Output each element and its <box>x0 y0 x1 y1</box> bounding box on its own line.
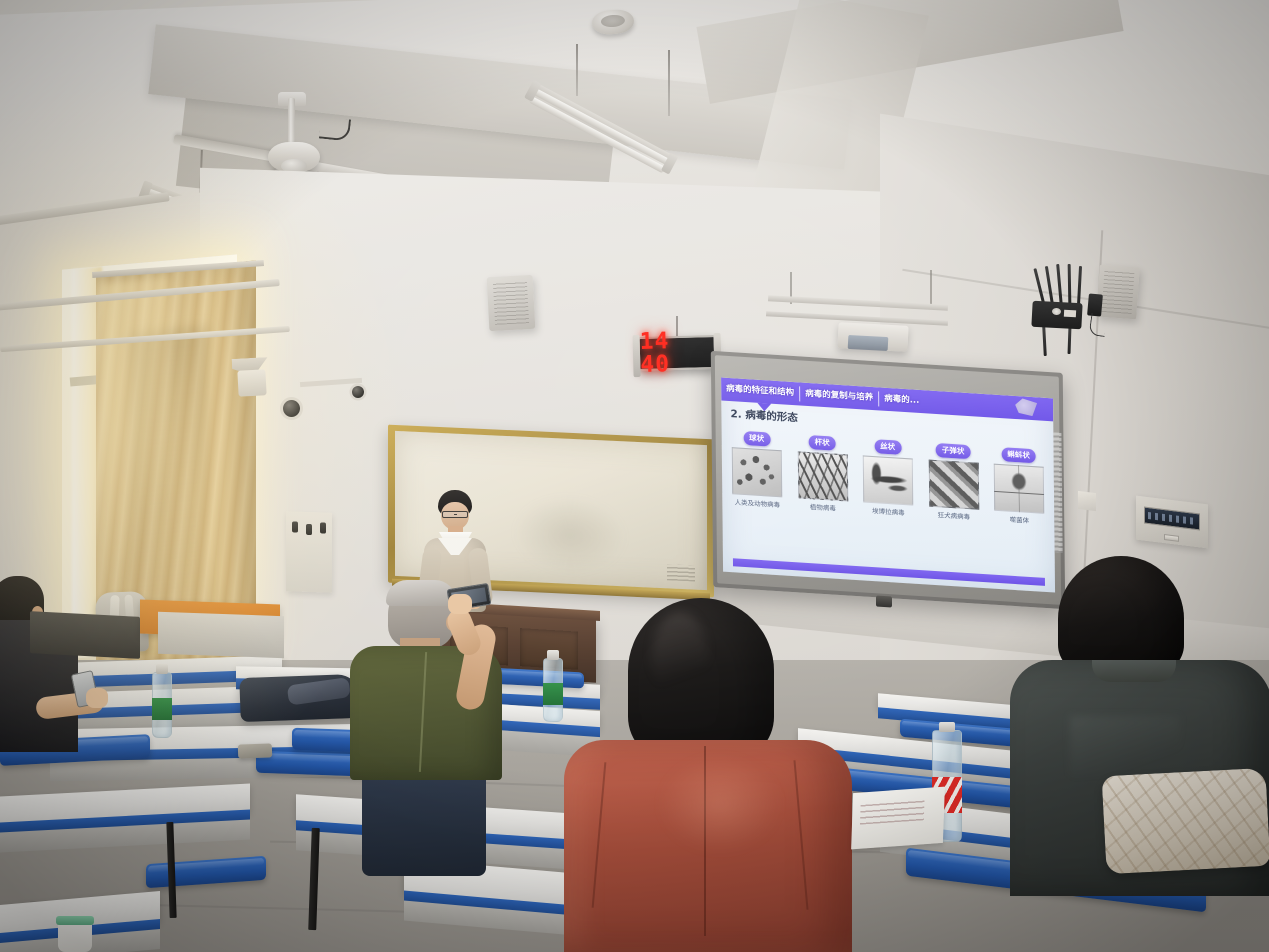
virus-shape-item-1: 杆状 植物病毒 <box>793 430 852 514</box>
coat-hook-icon[interactable] <box>306 524 312 535</box>
virus-shape-caption: 埃博拉病毒 <box>859 504 917 518</box>
hair-highlight <box>652 612 708 702</box>
virus-micrograph-image <box>994 464 1044 514</box>
virus-shape-label: 蝌蚪状 <box>1001 447 1036 463</box>
wall-speaker <box>487 275 536 331</box>
wall-plate[interactable] <box>1078 491 1096 511</box>
bottle-cap <box>939 722 956 732</box>
display-ir-sensor-icon <box>876 595 892 607</box>
slide-tab-1[interactable]: 病毒的复制与培养 <box>800 382 878 410</box>
equipment-box <box>30 611 140 659</box>
virus-shape-item-4: 蝌蚪状 噬菌体 <box>990 442 1049 526</box>
slide-heading: 2. 病毒的形态 <box>730 406 798 425</box>
bottle-cap <box>547 650 558 660</box>
gray-storage-box <box>158 612 284 658</box>
virus-shape-caption: 噬菌体 <box>990 512 1048 526</box>
attendee-hair <box>1058 556 1184 674</box>
bottle-label <box>543 683 563 705</box>
virus-micrograph-image <box>732 447 782 497</box>
digital-clock: 14 40 <box>638 335 717 371</box>
classroom-photo: 14 40 病毒的特征和结构 病毒的复制与培养 病毒的... 2 <box>0 0 1269 952</box>
security-camera-icon <box>283 400 300 417</box>
jacket-highlight <box>660 756 780 852</box>
attendee-legs <box>362 772 486 876</box>
wall-control-panel[interactable] <box>1136 496 1208 549</box>
projector-drop-rod <box>930 270 932 306</box>
wall-speaker <box>1096 265 1140 320</box>
virus-shape-label: 杆状 <box>809 434 836 450</box>
virus-shape-caption: 人类及动物病毒 <box>728 496 786 510</box>
whiteboard-smudge <box>515 494 625 575</box>
attendee-olive <box>336 580 536 880</box>
papers[interactable] <box>851 787 945 850</box>
bottle-label <box>152 698 172 720</box>
light-wire <box>576 44 578 96</box>
mobile-phone[interactable] <box>238 743 272 758</box>
virus-shape-caption: 狂犬病病毒 <box>925 508 983 522</box>
virus-micrograph-image <box>928 460 978 510</box>
attendee-red <box>556 598 876 952</box>
whiteboard-logo <box>667 564 695 581</box>
slide-tab-2[interactable]: 病毒的... <box>879 387 924 413</box>
attendee-hand <box>448 594 472 614</box>
virus-shape-label: 丝状 <box>874 439 901 455</box>
coat-hook-panel <box>286 511 332 593</box>
glasses-icon <box>442 511 468 518</box>
water-bottle[interactable] <box>152 664 172 738</box>
shirt-collar <box>1092 660 1176 682</box>
fan-pull-cord[interactable] <box>319 116 351 141</box>
attendee-right <box>1000 556 1269 896</box>
clock-time: 14 40 <box>639 329 714 377</box>
security-camera-icon <box>352 386 364 398</box>
virus-micrograph-image <box>863 455 913 505</box>
control-panel-button[interactable] <box>1164 534 1179 542</box>
light-wire <box>668 50 670 116</box>
jammer-port <box>1064 310 1076 318</box>
attendee-hand <box>86 688 108 708</box>
water-bottle[interactable] <box>543 650 563 722</box>
tote-bag[interactable] <box>1102 768 1269 874</box>
coat-hook-icon[interactable] <box>320 522 326 533</box>
virus-shape-item-0: 球状 人类及动物病毒 <box>728 426 787 510</box>
virus-shape-caption: 植物病毒 <box>794 500 852 514</box>
virus-shape-item-3: 子弹状 狂犬病病毒 <box>924 438 983 522</box>
camera-housing <box>237 369 266 396</box>
coat-hook-icon[interactable] <box>292 521 298 532</box>
slide-tab-0[interactable]: 病毒的特征和结构 <box>721 377 799 405</box>
virus-shape-row: 球状 人类及动物病毒 杆状 植物病毒 丝状 埃博拉病毒 子弹状 <box>728 426 1049 526</box>
projector-lens-icon <box>848 335 889 351</box>
drink-cup[interactable] <box>58 916 92 952</box>
attendee-hair <box>386 580 456 606</box>
virus-shape-label: 球状 <box>743 430 770 446</box>
cup-lid <box>56 916 94 925</box>
clock-bracket <box>633 335 641 377</box>
virus-shape-item-2: 丝状 埃博拉病毒 <box>859 434 918 518</box>
bottle-cap <box>156 664 167 674</box>
control-panel-display <box>1144 507 1200 531</box>
shirt-fold <box>1070 716 1180 776</box>
display-side-strip <box>1053 432 1062 553</box>
virus-shape-label: 子弹状 <box>936 443 971 459</box>
virus-micrograph-image <box>797 451 847 501</box>
